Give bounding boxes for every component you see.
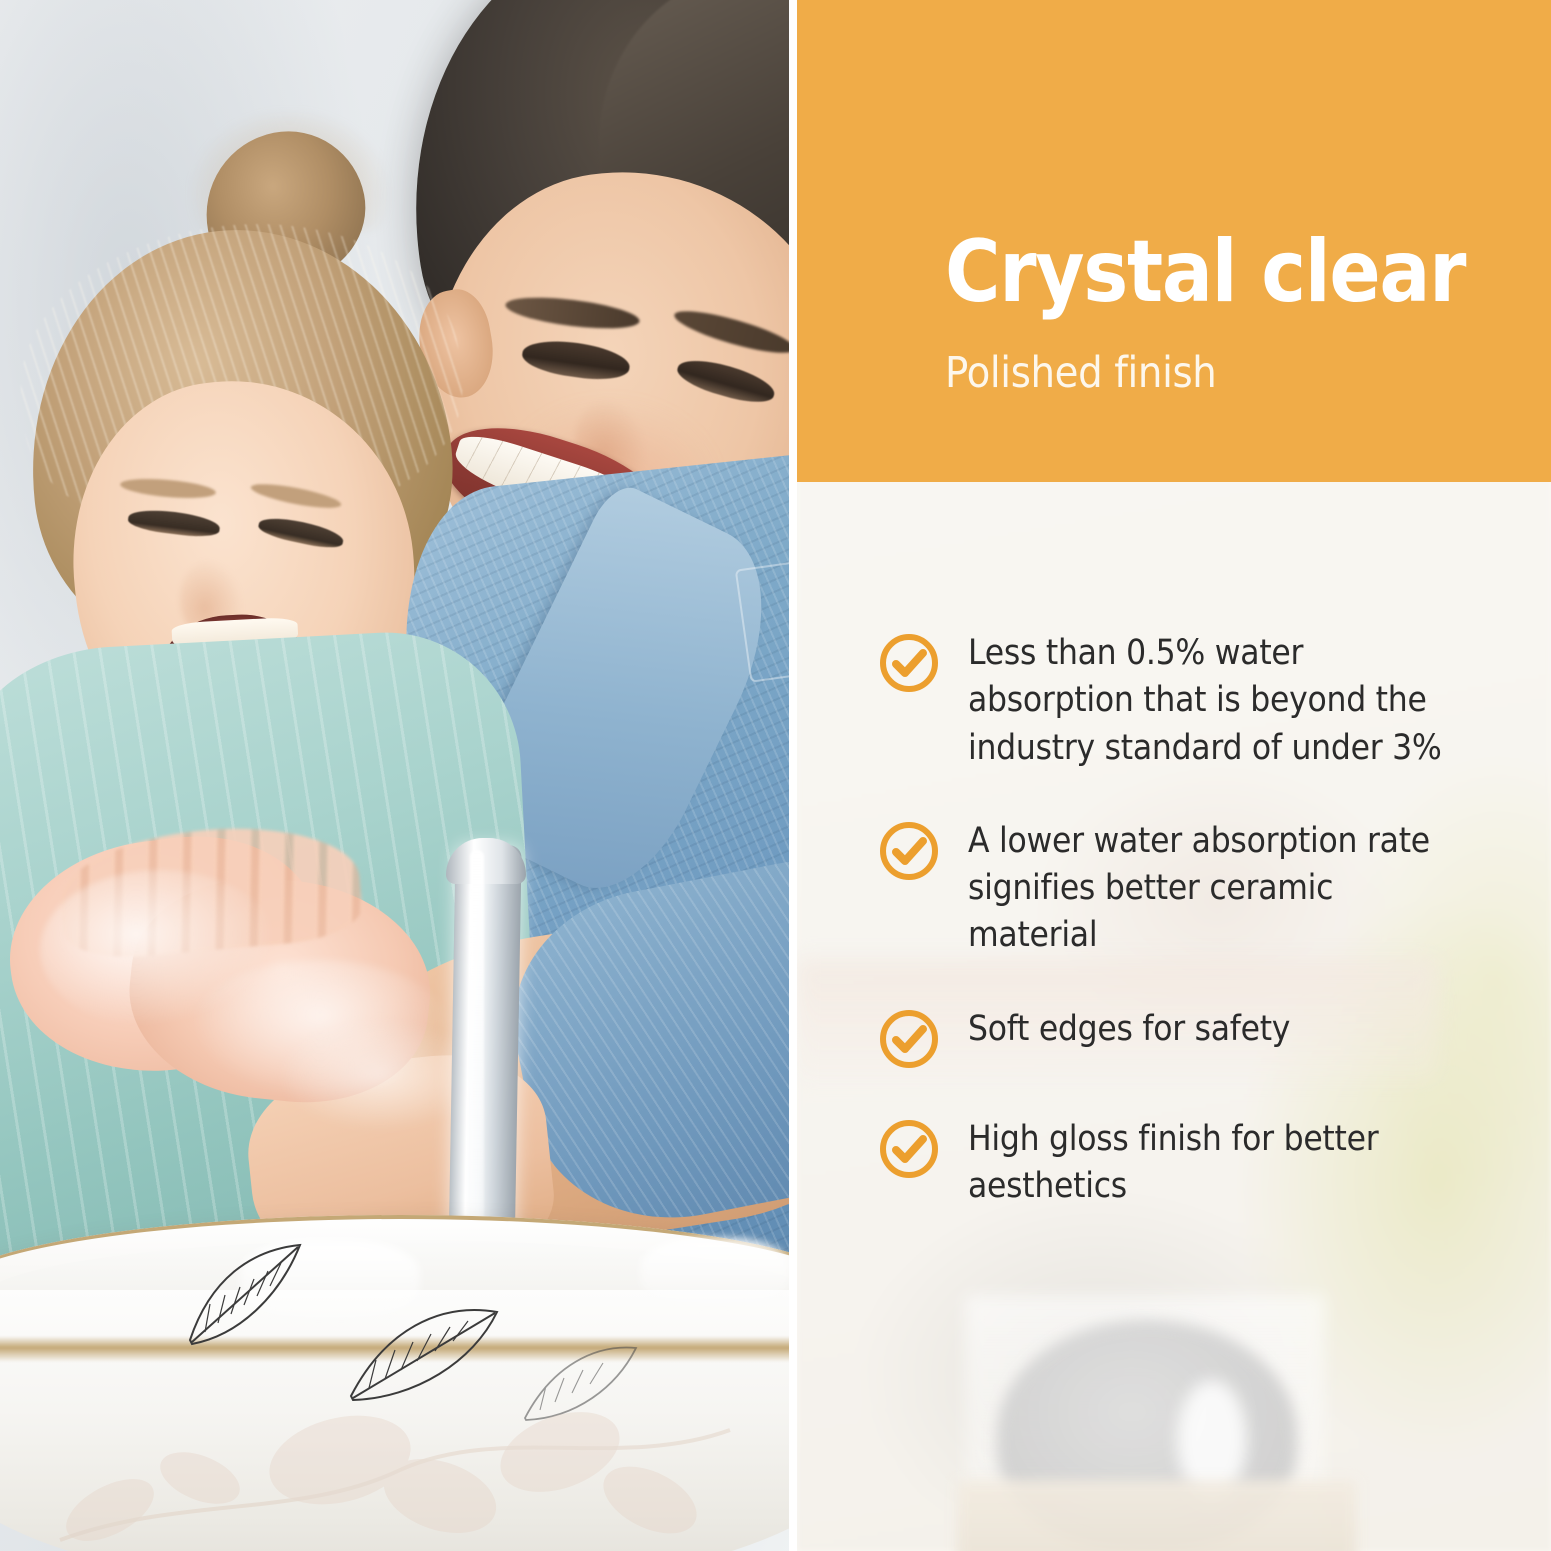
lifestyle-photo bbox=[0, 0, 795, 1551]
page-title: Crystal clear bbox=[945, 229, 1465, 315]
feature-text: Soft edges for safety bbox=[968, 1006, 1463, 1053]
page-subtitle: Polished finish bbox=[945, 352, 1216, 395]
check-circle-icon bbox=[878, 820, 940, 882]
feature-text: High gloss finish for better aesthetics bbox=[968, 1116, 1463, 1211]
blurred-shelf bbox=[957, 1480, 1357, 1551]
feature-text: A lower water absorption rate signifies … bbox=[968, 818, 1463, 960]
infographic-canvas: Crystal clear Polished finish Less than … bbox=[0, 0, 1551, 1551]
faucet-highlight bbox=[470, 850, 484, 1250]
basin-highlight-b bbox=[640, 1238, 790, 1308]
feature-text: Less than 0.5% water absorption that is … bbox=[968, 630, 1463, 772]
basin-leaf-motif-b bbox=[345, 1300, 505, 1405]
feature-list: Less than 0.5% water absorption that is … bbox=[878, 630, 1518, 1210]
basin-flower-motif bbox=[40, 1400, 740, 1551]
basin-leaf-motif-a bbox=[180, 1240, 310, 1350]
chrome-faucet bbox=[448, 844, 521, 1265]
list-item: A lower water absorption rate signifies … bbox=[878, 818, 1518, 960]
list-item: High gloss finish for better aesthetics bbox=[878, 1116, 1518, 1211]
panel-divider bbox=[789, 0, 797, 1551]
check-circle-icon bbox=[878, 1118, 940, 1180]
list-item: Soft edges for safety bbox=[878, 1006, 1518, 1070]
check-circle-icon bbox=[878, 1008, 940, 1070]
check-circle-icon bbox=[878, 632, 940, 694]
list-item: Less than 0.5% water absorption that is … bbox=[878, 630, 1518, 772]
content-panel: Crystal clear Polished finish Less than … bbox=[797, 0, 1551, 1551]
